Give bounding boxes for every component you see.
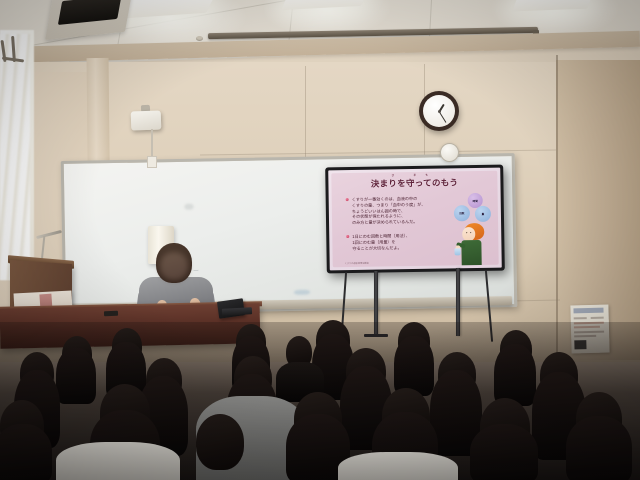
audience-shoulders [338,452,458,480]
audience-head [196,414,244,470]
audience-hair [0,424,52,480]
ac-vent-grille [58,0,122,25]
bullet-line: のみ方と量が決められているんだ。 [352,219,456,226]
clock-face [423,95,455,127]
wall-switch-plate [147,156,157,168]
audience-hair [470,424,538,480]
audience-hair [494,344,536,406]
wall-clock [419,91,459,131]
wall-speaker [131,110,162,130]
slide-title: 決まりを守ってのもう [331,176,497,191]
desk-object [104,311,118,316]
audience-hair [566,416,632,480]
audience-hair [56,348,96,404]
slide-credit: くすりの適正使用協議会 [345,261,369,265]
slide-bullet-2: 1日にのむ回数と時間（用法）、 1回にのむ量（用量）を 守ることが大切なんだよ。 [352,232,456,251]
character-cup [454,248,460,255]
window-curtain [0,34,30,280]
audience-shoulders [56,442,180,480]
speaker-cord [151,129,153,159]
slide-bullet-1: くすりが一番効くのは、血液の中の くすりの量、つまり「血中のう度」が、 ちょうど… [352,195,456,226]
bullet-marker [346,198,349,201]
ceiling-sensor [196,36,203,41]
wall-corner-edge [556,55,558,365]
wall-seam [305,66,306,162]
slide-circle-diagram: 時間 回数 量 [450,193,498,224]
secondary-wall-dial [440,143,459,162]
presentation-slide: き まも 決まりを守ってのもう くすりが一番効くのは、血液の中の くすりの量、つ… [331,171,498,268]
slide-character-illustration [452,223,493,268]
bullet-marker [346,235,349,238]
diagram-circle-label: 時間 [473,199,478,203]
diagram-circle-count: 回数 [454,205,470,221]
display-tv[interactable]: き まも 決まりを守ってのもう くすりが一番効くのは、血液の中の くすりの量、つ… [325,165,505,274]
diagram-circle-amount: 量 [475,206,491,222]
tv-screen: き まも 決まりを守ってのもう くすりが一番効くのは、血液の中の くすりの量、つ… [328,168,502,271]
bullet-line: 守ることが大切なんだよ。 [352,244,456,251]
diagram-circle-label: 量 [482,212,485,216]
diagram-circle-label: 回数 [459,211,464,215]
audience-hair [394,336,434,396]
presenter-face-blur [160,252,188,280]
clock-center-pin [438,110,441,113]
classroom-photo: ー ー ー き まも 決まりを守ってのもう くすりが一番効くのは、血液の中の く… [0,0,640,480]
